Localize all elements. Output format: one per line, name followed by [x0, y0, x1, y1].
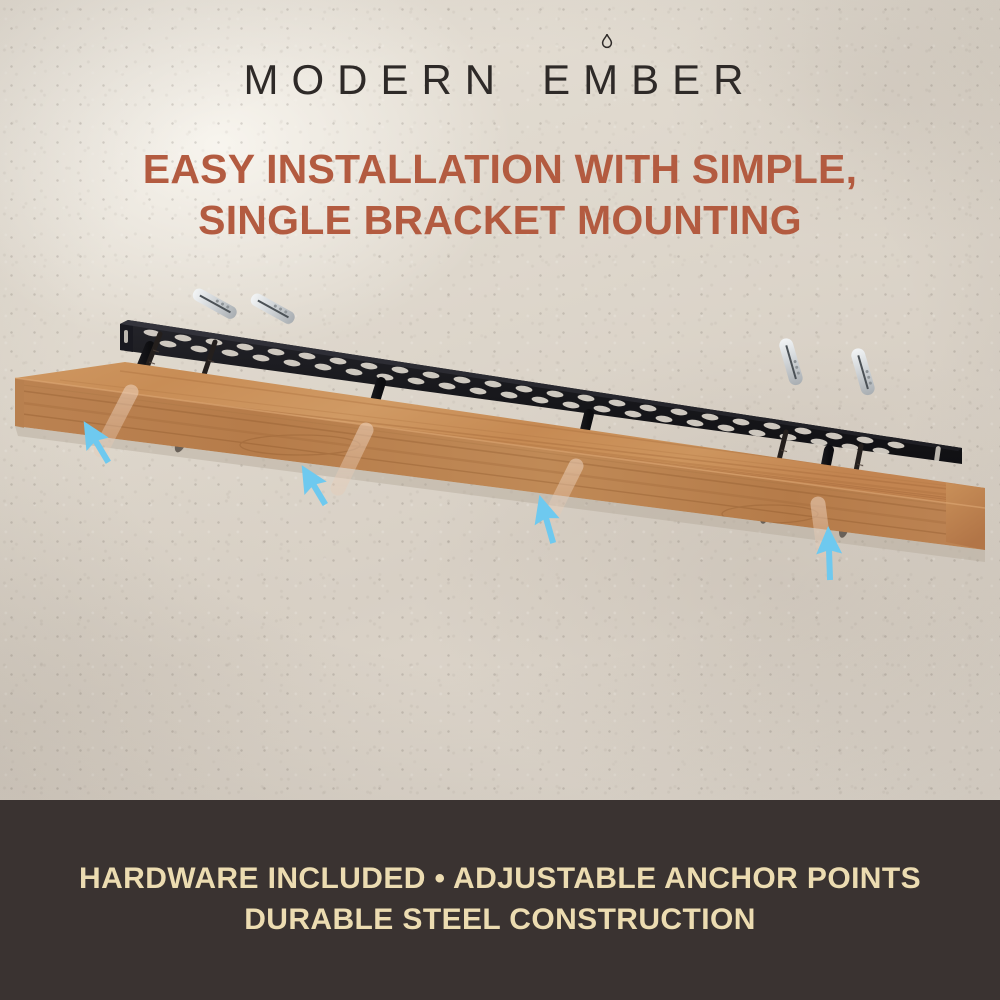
feature-banner: HARDWARE INCLUDED • ADJUSTABLE ANCHOR PO…	[0, 800, 1000, 1000]
headline-line-1: EASY INSTALLATION WITH SIMPLE,	[0, 144, 1000, 195]
product-illustration	[0, 250, 1000, 670]
wall-anchor-2	[249, 291, 297, 326]
brand-name-modern: MODERN	[243, 56, 508, 103]
flame-droplet-icon	[602, 34, 613, 49]
product-marketing-image: MODERNEMBER EASY INSTALLATION WITH SIMPL…	[0, 0, 1000, 1000]
banner-line-1: HARDWARE INCLUDED • ADJUSTABLE ANCHOR PO…	[0, 862, 1000, 896]
bracket-end-slot-left	[124, 330, 128, 343]
headline-line-2: SINGLE BRACKET MOUNTING	[0, 195, 1000, 246]
brand-name-ember-m: M	[583, 56, 631, 103]
shelf-right-end	[946, 483, 985, 550]
wall-anchor-1	[191, 286, 239, 321]
brand-name-ember-m-wrap: M	[583, 56, 631, 104]
wall-anchor-4	[850, 347, 877, 397]
brand-name-ember-post: BER	[631, 56, 756, 103]
brand-name-ember-pre: E	[542, 56, 583, 103]
wall-anchors	[191, 286, 877, 396]
banner-line-2: DURABLE STEEL CONSTRUCTION	[0, 903, 1000, 937]
shelf-left-end	[15, 378, 24, 428]
wall-anchor-3	[778, 337, 805, 387]
page-title: EASY INSTALLATION WITH SIMPLE, SINGLE BR…	[0, 144, 1000, 246]
brand-logo: MODERNEMBER	[0, 56, 1000, 104]
